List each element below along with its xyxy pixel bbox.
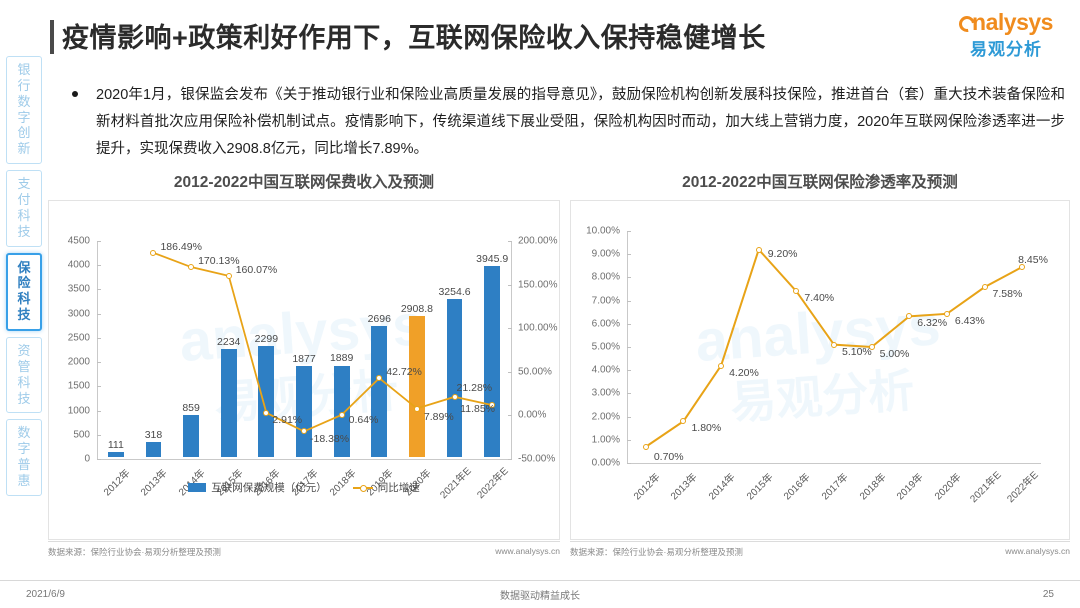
- sidebar-item-label-char: 字: [7, 441, 41, 457]
- title-accent-bar: [50, 20, 54, 54]
- sidebar-item-label-char: 普: [7, 457, 41, 473]
- x-axis: [97, 459, 511, 460]
- y-axis-tick-label: 0.00%: [571, 458, 620, 469]
- line-value-label-2: 170.13%: [198, 255, 239, 267]
- line-value-label-4: 7.40%: [804, 292, 834, 304]
- line-marker-4: [793, 288, 799, 294]
- line-value-label-2: 4.20%: [729, 367, 759, 379]
- page-footer: 2021/6/9 数据驱动精益成长 25: [0, 580, 1080, 608]
- logo-wordmark: nalysys: [946, 10, 1066, 34]
- legend-item-line[interactable]: 同比增速: [353, 480, 420, 495]
- bar-value-label-7: 2696: [368, 313, 391, 325]
- y-tick-mark: [627, 231, 631, 232]
- sidebar-item-4[interactable]: 数字普惠: [6, 419, 42, 495]
- sidebar-item-label-char: 保: [8, 260, 40, 276]
- x-axis-tick-label-3: 2015年: [739, 469, 775, 505]
- line-marker-0: [643, 444, 649, 450]
- y-axis-tick-label: 10.00%: [571, 226, 620, 237]
- line-marker-1: [680, 418, 686, 424]
- y2-tick-mark: [508, 241, 512, 242]
- y-tick-mark: [97, 314, 101, 315]
- bar-value-label-10: 3945.9: [476, 253, 508, 265]
- line-value-label-9: 7.58%: [993, 288, 1023, 300]
- y-tick-mark: [97, 265, 101, 266]
- y-axis-tick-label: 7.00%: [571, 295, 620, 306]
- source-bar-left: 数据来源：保险行业协会·易观分析整理及预测 www.analysys.cn: [48, 541, 560, 558]
- y-tick-mark: [627, 463, 631, 464]
- sidebar-item-label-char: 惠: [7, 473, 41, 489]
- sidebar-item-2[interactable]: 保险科技: [6, 253, 42, 331]
- line-value-label-5: 5.10%: [842, 346, 872, 358]
- y2-axis-tick-label: 0.00%: [518, 410, 546, 421]
- sidebar-item-label-char: 科: [8, 291, 40, 307]
- sidebar-item-label-char: 数: [7, 425, 41, 441]
- bullet-paragraph: 2020年1月，银保监会发布《关于推动银行业和保险业高质量发展的指导意见》，鼓励…: [96, 82, 1065, 162]
- sidebar-item-1[interactable]: 支付科技: [6, 170, 42, 246]
- legend-swatch-bar: [188, 483, 206, 492]
- line-marker-6: [339, 412, 345, 418]
- footer-page-number: 25: [1043, 589, 1054, 600]
- chart-legend-left[interactable]: 互联网保费规模（亿元）同比增速: [49, 480, 559, 495]
- y-tick-mark: [97, 289, 101, 290]
- y-axis-tick-label: 9.00%: [571, 249, 620, 260]
- line-value-label-7: 6.32%: [917, 317, 947, 329]
- y-tick-mark: [97, 459, 101, 460]
- bar-1: [146, 442, 162, 457]
- category-sidebar[interactable]: 银行数字创新支付科技保险科技资管科技数字普惠: [4, 56, 44, 502]
- sidebar-item-label-char: 技: [7, 391, 41, 407]
- y-axis-tick-label: 2500: [49, 332, 90, 343]
- page-title: 疫情影响+政策利好作用下，互联网保险收入保持稳健增长: [62, 16, 766, 55]
- y-tick-mark: [627, 254, 631, 255]
- line-value-label-0: 0.70%: [654, 451, 684, 463]
- x-axis-tick-label-6: 2018年: [852, 469, 888, 505]
- line-marker-2: [718, 363, 724, 369]
- y-tick-mark: [627, 393, 631, 394]
- line-marker-5: [831, 342, 837, 348]
- line-value-label-4: 2.91%: [272, 414, 302, 426]
- chart-title-left: 2012-2022中国互联网保费收入及预测: [48, 168, 560, 192]
- line-marker-7: [906, 313, 912, 319]
- y-tick-mark: [627, 417, 631, 418]
- line-marker-1: [150, 250, 156, 256]
- line-value-label-1: 1.80%: [691, 422, 721, 434]
- source-url-right[interactable]: www.analysys.cn: [1005, 546, 1070, 558]
- y2-tick-mark: [508, 415, 512, 416]
- y-tick-mark: [97, 241, 101, 242]
- y2-axis-tick-label: -50.00%: [518, 454, 555, 465]
- y2-axis-tick-label: 100.00%: [518, 323, 557, 334]
- y-tick-mark: [627, 370, 631, 371]
- y2-tick-mark: [508, 372, 512, 373]
- sidebar-item-label-char: 技: [7, 224, 41, 240]
- bar-value-label-0: 111: [108, 439, 124, 451]
- y-axis-tick-label: 1.00%: [571, 434, 620, 445]
- bar-7: [371, 326, 387, 457]
- legend-label-bars: 互联网保费规模（亿元）: [211, 480, 327, 495]
- x-axis-tick-label-2: 2014年: [702, 469, 738, 505]
- line-marker-5: [301, 428, 307, 434]
- line-value-label-10: 8.45%: [1018, 254, 1048, 266]
- plot-right: 0.00%1.00%2.00%3.00%4.00%5.00%6.00%7.00%…: [571, 201, 1069, 539]
- x-axis-tick-label-9: 2021年E: [965, 469, 1001, 505]
- y-tick-mark: [97, 362, 101, 363]
- y-axis-tick-label: 1000: [49, 405, 90, 416]
- y2-axis-tick-label: 200.00%: [518, 236, 557, 247]
- y2-axis-tick-label: 150.00%: [518, 279, 557, 290]
- sidebar-item-label-char: 新: [7, 141, 41, 157]
- source-url-left[interactable]: www.analysys.cn: [495, 546, 560, 558]
- bar-value-label-5: 1877: [292, 353, 315, 365]
- sidebar-item-label-char: 技: [8, 307, 40, 323]
- bar-value-label-6: 1889: [330, 352, 353, 364]
- line-marker-9: [982, 284, 988, 290]
- bar-value-label-8: 2908.8: [401, 303, 433, 315]
- sidebar-item-3[interactable]: 资管科技: [6, 337, 42, 413]
- y-axis-tick-label: 3000: [49, 308, 90, 319]
- y-axis-tick-label: 4.00%: [571, 365, 620, 376]
- y-axis-tick-label: 2.00%: [571, 411, 620, 422]
- source-bar-right: 数据来源：保险行业协会·易观分析整理及预测 www.analysys.cn: [570, 541, 1070, 558]
- y-axis-tick-label: 2000: [49, 357, 90, 368]
- y-axis-right: [511, 241, 512, 459]
- bar-value-label-2: 859: [182, 402, 200, 414]
- y-tick-mark: [97, 338, 101, 339]
- y-tick-mark: [627, 324, 631, 325]
- line-value-label-6: 5.00%: [880, 348, 910, 360]
- y-axis-tick-label: 4500: [49, 236, 90, 247]
- legend-swatch-line: [353, 487, 373, 489]
- sidebar-item-label-char: 数: [7, 94, 41, 110]
- y-axis-tick-label: 5.00%: [571, 342, 620, 353]
- y-axis-tick-label: 4000: [49, 260, 90, 271]
- y-axis-tick-label: 500: [49, 429, 90, 440]
- y-axis-tick-label: 6.00%: [571, 318, 620, 329]
- logo-main-text: nalysys: [972, 9, 1053, 35]
- logo-sub-text: 易观分析: [946, 35, 1066, 60]
- y-tick-mark: [97, 386, 101, 387]
- line-value-label-5: -18.38%: [310, 433, 349, 445]
- analysys-logo: nalysys 易观分析: [946, 10, 1066, 60]
- chart-title-right: 2012-2022中国互联网保险渗透率及预测: [570, 168, 1070, 192]
- line-marker-8: [944, 311, 950, 317]
- sidebar-item-label-char: 付: [7, 192, 41, 208]
- sidebar-item-label-char: 行: [7, 78, 41, 94]
- chart-area-left: analysys 易观分析 05001000150020002500300035…: [48, 200, 560, 540]
- y2-tick-mark: [508, 285, 512, 286]
- chart-area-right: analysys 易观分析 0.00%1.00%2.00%3.00%4.00%5…: [570, 200, 1070, 540]
- x-axis-tick-label-0: 2012年: [626, 469, 662, 505]
- y-axis-tick-label: 8.00%: [571, 272, 620, 283]
- bar-3: [221, 349, 237, 457]
- bar-10: [484, 266, 500, 457]
- y-axis-tick-label: 1500: [49, 381, 90, 392]
- bar-4: [258, 346, 274, 457]
- sidebar-item-label-char: 创: [7, 125, 41, 141]
- line-marker-9: [452, 394, 458, 400]
- sidebar-item-label-char: 科: [7, 208, 41, 224]
- y-axis-tick-label: 3500: [49, 284, 90, 295]
- chart-panel-left: 2012-2022中国互联网保费收入及预测 analysys 易观分析 0500…: [48, 168, 560, 576]
- sidebar-item-label-char: 支: [7, 176, 41, 192]
- line-marker-2: [188, 264, 194, 270]
- sidebar-item-label-char: 险: [8, 275, 40, 291]
- x-axis: [627, 463, 1041, 464]
- y2-tick-mark: [508, 459, 512, 460]
- legend-label-line: 同比增速: [378, 480, 420, 495]
- line-value-label-3: 9.20%: [768, 248, 798, 260]
- x-axis-tick-label-8: 2020年: [927, 469, 963, 505]
- line-marker-3: [756, 247, 762, 253]
- x-axis-tick-label-5: 2017年: [815, 469, 851, 505]
- bullet-dot-icon: [72, 91, 78, 97]
- footer-slogan: 数据驱动精益成长: [500, 587, 580, 602]
- y-tick-mark: [627, 277, 631, 278]
- line-value-label-10: 11.85%: [460, 403, 495, 415]
- line-value-label-6: 0.64%: [349, 414, 379, 426]
- line-marker-6: [869, 344, 875, 350]
- bar-value-label-9: 3254.6: [438, 286, 470, 298]
- y-axis-left: [97, 241, 98, 459]
- bar-value-label-3: 2234: [217, 336, 240, 348]
- sidebar-item-0[interactable]: 银行数字创新: [6, 56, 42, 164]
- x-axis-tick-label-1: 2013年: [664, 469, 700, 505]
- line-value-label-3: 160.07%: [236, 264, 277, 276]
- bar-value-label-4: 2299: [255, 333, 278, 345]
- line-value-label-8: 7.89%: [424, 411, 454, 423]
- line-value-label-8: 6.43%: [955, 315, 985, 327]
- y2-axis-tick-label: 50.00%: [518, 366, 552, 377]
- y-axis-tick-label: 3.00%: [571, 388, 620, 399]
- y-tick-mark: [627, 440, 631, 441]
- bar-0: [108, 452, 124, 457]
- bar-9: [447, 299, 463, 457]
- x-axis-tick-label-4: 2016年: [777, 469, 813, 505]
- chart-panel-right: 2012-2022中国互联网保险渗透率及预测 analysys 易观分析 0.0…: [570, 168, 1070, 576]
- footer-date: 2021/6/9: [26, 589, 65, 600]
- sidebar-item-label-char: 银: [7, 62, 41, 78]
- y-tick-mark: [97, 411, 101, 412]
- sidebar-item-label-char: 字: [7, 110, 41, 126]
- sidebar-item-label-char: 科: [7, 375, 41, 391]
- bar-value-label-1: 318: [145, 429, 163, 441]
- line-value-label-7: 42.72%: [386, 366, 422, 378]
- y2-tick-mark: [508, 328, 512, 329]
- bar-2: [183, 415, 199, 457]
- sidebar-item-label-char: 管: [7, 359, 41, 375]
- y-axis-tick-label: 0: [49, 454, 90, 465]
- body-bullet-block: 2020年1月，银保监会发布《关于推动银行业和保险业高质量发展的指导意见》，鼓励…: [60, 82, 1065, 162]
- line-marker-4: [263, 410, 269, 416]
- x-axis-tick-label-7: 2019年: [890, 469, 926, 505]
- page-header: 疫情影响+政策利好作用下，互联网保险收入保持稳健增长 nalysys 易观分析: [0, 0, 1080, 72]
- y-tick-mark: [627, 301, 631, 302]
- bar-8: [409, 316, 425, 457]
- line-marker-8: [414, 406, 420, 412]
- line-marker-7: [376, 375, 382, 381]
- source-text-right: 数据来源：保险行业协会·易观分析整理及预测: [570, 546, 743, 558]
- line-value-label-9: 21.28%: [457, 382, 493, 394]
- line-value-label-1: 186.49%: [160, 241, 201, 253]
- legend-item-bars[interactable]: 互联网保费规模（亿元）: [188, 480, 327, 495]
- x-axis-tick-label-10: 2022年E: [1003, 469, 1039, 505]
- y-tick-mark: [627, 347, 631, 348]
- y-tick-mark: [97, 435, 101, 436]
- sidebar-item-label-char: 资: [7, 343, 41, 359]
- source-text-left: 数据来源：保险行业协会·易观分析整理及预测: [48, 546, 221, 558]
- line-marker-3: [226, 273, 232, 279]
